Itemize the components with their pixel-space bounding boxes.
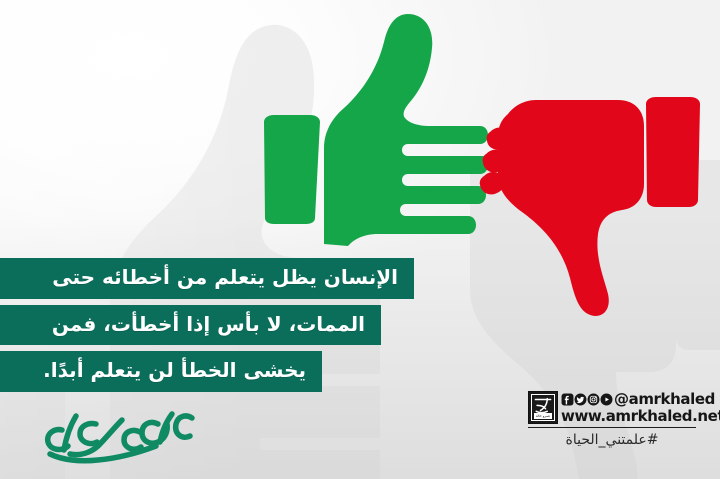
brand-footer: عمرو خالد — [528, 391, 696, 448]
quote-line-2: الممات، لا بأس إذا أخطأت، فمن — [0, 305, 381, 346]
amr-khaled-logo-icon[interactable]: عمرو خالد — [528, 391, 558, 424]
quote-block: الإنسان يظل يتعلم من أخطائه حتى الممات، … — [0, 258, 470, 398]
campaign-hashtag[interactable]: #علمتني_الحياة — [528, 432, 696, 448]
thumbs-down-icon — [468, 92, 703, 317]
logo-caption: عمرو خالد — [534, 413, 552, 419]
quote-line-1: الإنسان يظل يتعلم من أخطائه حتى — [0, 258, 414, 299]
brand-divider — [528, 427, 696, 428]
quote-line-3: يخشى الخطأ لن يتعلم أبدًا. — [0, 351, 322, 392]
social-handle-text[interactable]: @amrkhaled — [614, 392, 715, 407]
social-handle-row: @amrkhaled — [561, 392, 720, 408]
website-text[interactable]: www.amrkhaled.net — [561, 409, 720, 424]
thumbs-up-icon — [258, 8, 488, 248]
brand-text-lines: @amrkhaled www.amrkhaled.net — [561, 392, 720, 424]
twitter-icon[interactable] — [574, 393, 587, 406]
facebook-icon[interactable] — [561, 393, 574, 406]
signature-amr-khaled: عمرو خالد — [36, 406, 206, 468]
instagram-icon[interactable] — [587, 393, 600, 406]
youtube-icon[interactable] — [600, 393, 613, 406]
brand-row: عمرو خالد — [528, 391, 696, 424]
poster-canvas: الإنسان يظل يتعلم من أخطائه حتى الممات، … — [0, 0, 720, 479]
